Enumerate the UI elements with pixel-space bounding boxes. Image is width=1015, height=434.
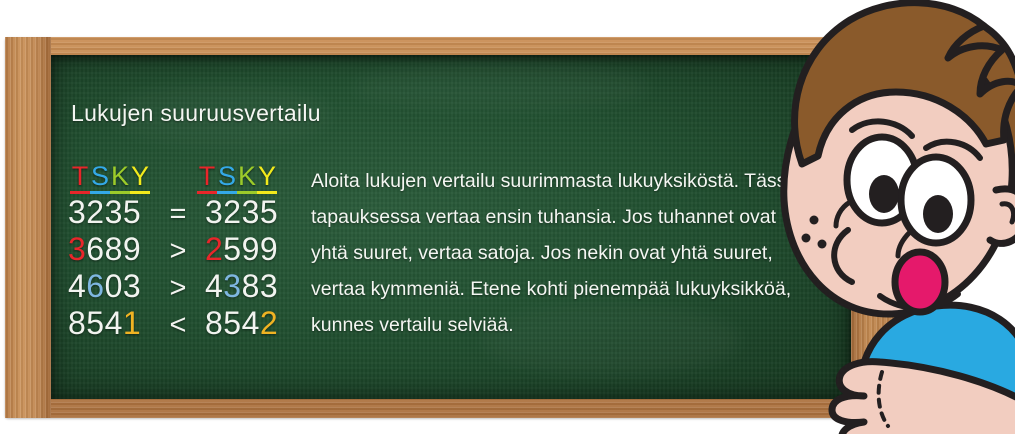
boy-freckle xyxy=(810,216,819,225)
number-left: 8541 xyxy=(59,305,159,342)
number-left: 4603 xyxy=(59,268,159,305)
digit: 2 xyxy=(86,194,104,230)
digit: 1 xyxy=(123,305,141,341)
comparison-examples: T S K Y T S K Y 3235=32353689>25994603>4… xyxy=(59,160,317,342)
comparison-operator: = xyxy=(159,198,197,231)
number-right: 3235 xyxy=(197,194,297,231)
digit: 3 xyxy=(105,194,123,230)
comparison-row: 4603>4383 xyxy=(59,268,317,305)
digit: 2 xyxy=(205,231,223,267)
digit: 8 xyxy=(205,305,223,341)
number-left: 3689 xyxy=(59,231,159,268)
digit: 4 xyxy=(105,305,123,341)
frame-left-post xyxy=(5,37,51,418)
digit: 5 xyxy=(223,231,241,267)
place-value-legend-row: T S K Y T S K Y xyxy=(59,160,317,194)
comparison-rows: 3235=32353689>25994603>43838541<8542 xyxy=(59,194,317,342)
comparison-row: 8541<8542 xyxy=(59,305,317,342)
boy-pupil-left xyxy=(869,175,899,213)
place-value-legend-left: T S K Y xyxy=(70,163,150,194)
digit: 9 xyxy=(123,231,141,267)
lesson-paragraph: Aloita lukujen vertailu suurimmasta luku… xyxy=(311,163,811,343)
legend-letter-y: Y xyxy=(257,163,277,194)
digit: 8 xyxy=(242,268,260,304)
comparison-operator: < xyxy=(159,309,197,342)
boy-pupil-right xyxy=(923,195,953,233)
digit: 5 xyxy=(223,305,241,341)
digit: 5 xyxy=(260,194,278,230)
digit: 3 xyxy=(68,194,86,230)
boy-tongue xyxy=(895,252,945,312)
digit: 6 xyxy=(86,231,104,267)
number-left: 3235 xyxy=(59,194,159,231)
comparison-row: 3235=3235 xyxy=(59,194,317,231)
digit: 2 xyxy=(260,305,278,341)
legend-letter-t: T xyxy=(70,163,90,194)
chalk-smudge xyxy=(351,65,651,109)
digit: 4 xyxy=(242,305,260,341)
number-right: 2599 xyxy=(197,231,297,268)
legend-letter-y: Y xyxy=(130,163,150,194)
number-right: 4383 xyxy=(197,268,297,305)
digit: 3 xyxy=(260,268,278,304)
legend-letter-k: K xyxy=(237,163,257,194)
digit: 2 xyxy=(223,194,241,230)
digit: 5 xyxy=(123,194,141,230)
digit: 0 xyxy=(105,268,123,304)
chalkboard-surface: Lukujen suuruusvertailu T S K Y T S K xyxy=(51,55,851,399)
boy-freckle xyxy=(802,234,811,243)
legend-letter-s: S xyxy=(217,163,237,194)
legend-letter-t: T xyxy=(197,163,217,194)
digit: 6 xyxy=(86,268,104,304)
legend-letter-k: K xyxy=(110,163,130,194)
comparison-row: 3689>2599 xyxy=(59,231,317,268)
slide-canvas: Lukujen suuruusvertailu T S K Y T S K xyxy=(0,0,1015,434)
page-title: Lukujen suuruusvertailu xyxy=(71,100,321,127)
digit: 8 xyxy=(68,305,86,341)
digit: 3 xyxy=(223,268,241,304)
legend-letter-s: S xyxy=(90,163,110,194)
digit: 3 xyxy=(242,194,260,230)
place-value-legend-right: T S K Y xyxy=(197,163,277,194)
digit: 9 xyxy=(260,231,278,267)
digit: 3 xyxy=(123,268,141,304)
cartoon-boy-illustration xyxy=(740,0,1015,434)
comparison-operator: > xyxy=(159,235,197,268)
number-right: 8542 xyxy=(197,305,297,342)
digit: 4 xyxy=(68,268,86,304)
digit: 9 xyxy=(242,231,260,267)
digit: 3 xyxy=(205,194,223,230)
boy-freckle xyxy=(818,240,827,249)
digit: 4 xyxy=(205,268,223,304)
digit: 8 xyxy=(105,231,123,267)
comparison-operator: > xyxy=(159,272,197,305)
digit: 3 xyxy=(68,231,86,267)
digit: 5 xyxy=(86,305,104,341)
